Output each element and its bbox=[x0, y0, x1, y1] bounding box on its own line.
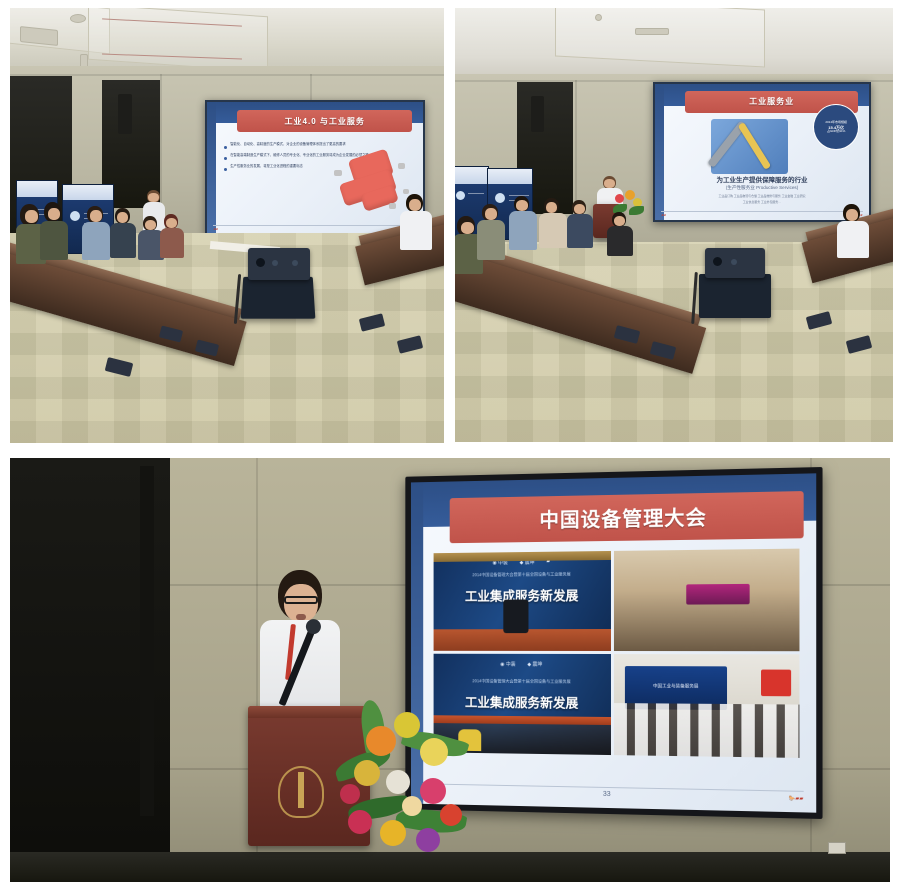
projector bbox=[248, 248, 310, 280]
footer-logo-right: 🐎▰▰ bbox=[789, 795, 804, 801]
badge-line-3: 占GDP的11% bbox=[827, 130, 845, 134]
photo-top-left: 工业4.0 与工业服务 智能化、自动化、高精度的生产模式，对企业的设备管理体系提… bbox=[10, 8, 444, 443]
tools-graphic bbox=[711, 119, 788, 173]
stage-logos: ◉ 中装 ◆ 震坤 bbox=[448, 661, 596, 668]
market-size-badge: 2014年市场规模 15.4万亿 占GDP的11% bbox=[816, 107, 856, 147]
attendee bbox=[110, 208, 136, 258]
projector-cart bbox=[241, 277, 316, 319]
attendee bbox=[837, 204, 869, 258]
bullet-text: 生产性服务业的发展，将是工业化进程的重要标志 bbox=[230, 164, 303, 171]
attendee bbox=[567, 200, 593, 248]
attendee bbox=[607, 212, 633, 256]
wall-outlet-icon bbox=[828, 842, 846, 854]
slide-detail-2: 工业信息服务 工业外包服务… bbox=[668, 200, 856, 204]
projection-screen: 工业服务业 2014年市场规模 15.4万亿 占GDP的11% 为工业生产提供保… bbox=[653, 82, 871, 222]
attendee bbox=[160, 214, 184, 258]
slide-subheadline: (生产性服务业 Productive Services) bbox=[672, 185, 852, 191]
slide-bullet: 智能化、自动化、高精度的生产模式，对企业的设备管理体系提出了更高的要求 bbox=[224, 142, 414, 149]
attendee bbox=[82, 206, 110, 260]
glasses-icon bbox=[284, 596, 318, 604]
grid-photo-hall bbox=[614, 548, 800, 651]
attendee bbox=[539, 198, 567, 248]
slide-title: 工业4.0 与工业服务 bbox=[237, 110, 412, 132]
projection-screen: 工业4.0 与工业服务 智能化、自动化、高精度的生产模式，对企业的设备管理体系提… bbox=[205, 100, 425, 236]
photo-top-right: 工业服务业 2014年市场规模 15.4万亿 占GDP的11% 为工业生产提供保… bbox=[455, 8, 893, 442]
footer-logo-left: ▰▰ bbox=[661, 213, 666, 217]
stage-speaker bbox=[504, 599, 529, 633]
attendee bbox=[477, 204, 505, 260]
slide-footer: ▰▰ ▰▰ bbox=[661, 211, 862, 217]
slide-title: 中国设备管理大会 bbox=[450, 491, 804, 543]
grid-photo-booth: 中国工业与装备服务展 bbox=[614, 654, 800, 758]
wall-pillar bbox=[140, 466, 154, 816]
slide-photo-grid: ◉ 中装 ◆ 震坤 ▰ 2014中国设备管理大会暨第十届全国设备与工业服务展 工… bbox=[434, 548, 799, 758]
attendee bbox=[509, 196, 537, 250]
slide-page-number: 33 bbox=[603, 791, 611, 798]
podium-emblem-detail bbox=[298, 772, 304, 808]
footer-logo-left: ▰▰ bbox=[213, 227, 218, 231]
projector-cart bbox=[699, 274, 771, 318]
booth-red-banner bbox=[761, 669, 791, 696]
booth-text: 中国工业与装备服务展 bbox=[631, 683, 722, 690]
bullet-text: 智能化、自动化、高精度的生产模式，对企业的设备管理体系提出了更高的要求 bbox=[230, 142, 345, 149]
bullet-dot-icon bbox=[224, 168, 227, 171]
slide-headline: 为工业生产提供保障服务的行业 bbox=[672, 174, 852, 184]
attendee bbox=[40, 202, 68, 260]
stage-event-line: 2014中国设备管理大会暨第十届全国设备与工业服务展 bbox=[441, 678, 603, 685]
photo-collage: 工业4.0 与工业服务 智能化、自动化、高精度的生产模式，对企业的设备管理体系提… bbox=[0, 0, 900, 889]
slide-detail-1: 工业品订购 工业品物流与仓储 工业品维修与服务 工业金融 工业研究 bbox=[668, 194, 856, 198]
logo-icon-2: ◆ 震坤 bbox=[527, 661, 542, 668]
ceiling bbox=[10, 8, 444, 70]
hall-stage-screen bbox=[687, 584, 750, 605]
attendee bbox=[400, 194, 432, 250]
flower-arrangement bbox=[332, 698, 482, 868]
photo-bottom: 中国设备管理大会 ◉ 中装 ◆ 震坤 ▰ 2014中国设备管理大会暨第十届全国设… bbox=[10, 458, 890, 882]
bullet-dot-icon bbox=[224, 146, 227, 149]
bullet-dot-icon bbox=[224, 157, 227, 160]
logo-icon-1: ◉ 中装 bbox=[500, 661, 515, 668]
ceiling bbox=[455, 8, 893, 78]
grid-photo-stage-1: ◉ 中装 ◆ 震坤 ▰ 2014中国设备管理大会暨第十届全国设备与工业服务展 工… bbox=[434, 551, 611, 652]
projector bbox=[705, 248, 765, 278]
